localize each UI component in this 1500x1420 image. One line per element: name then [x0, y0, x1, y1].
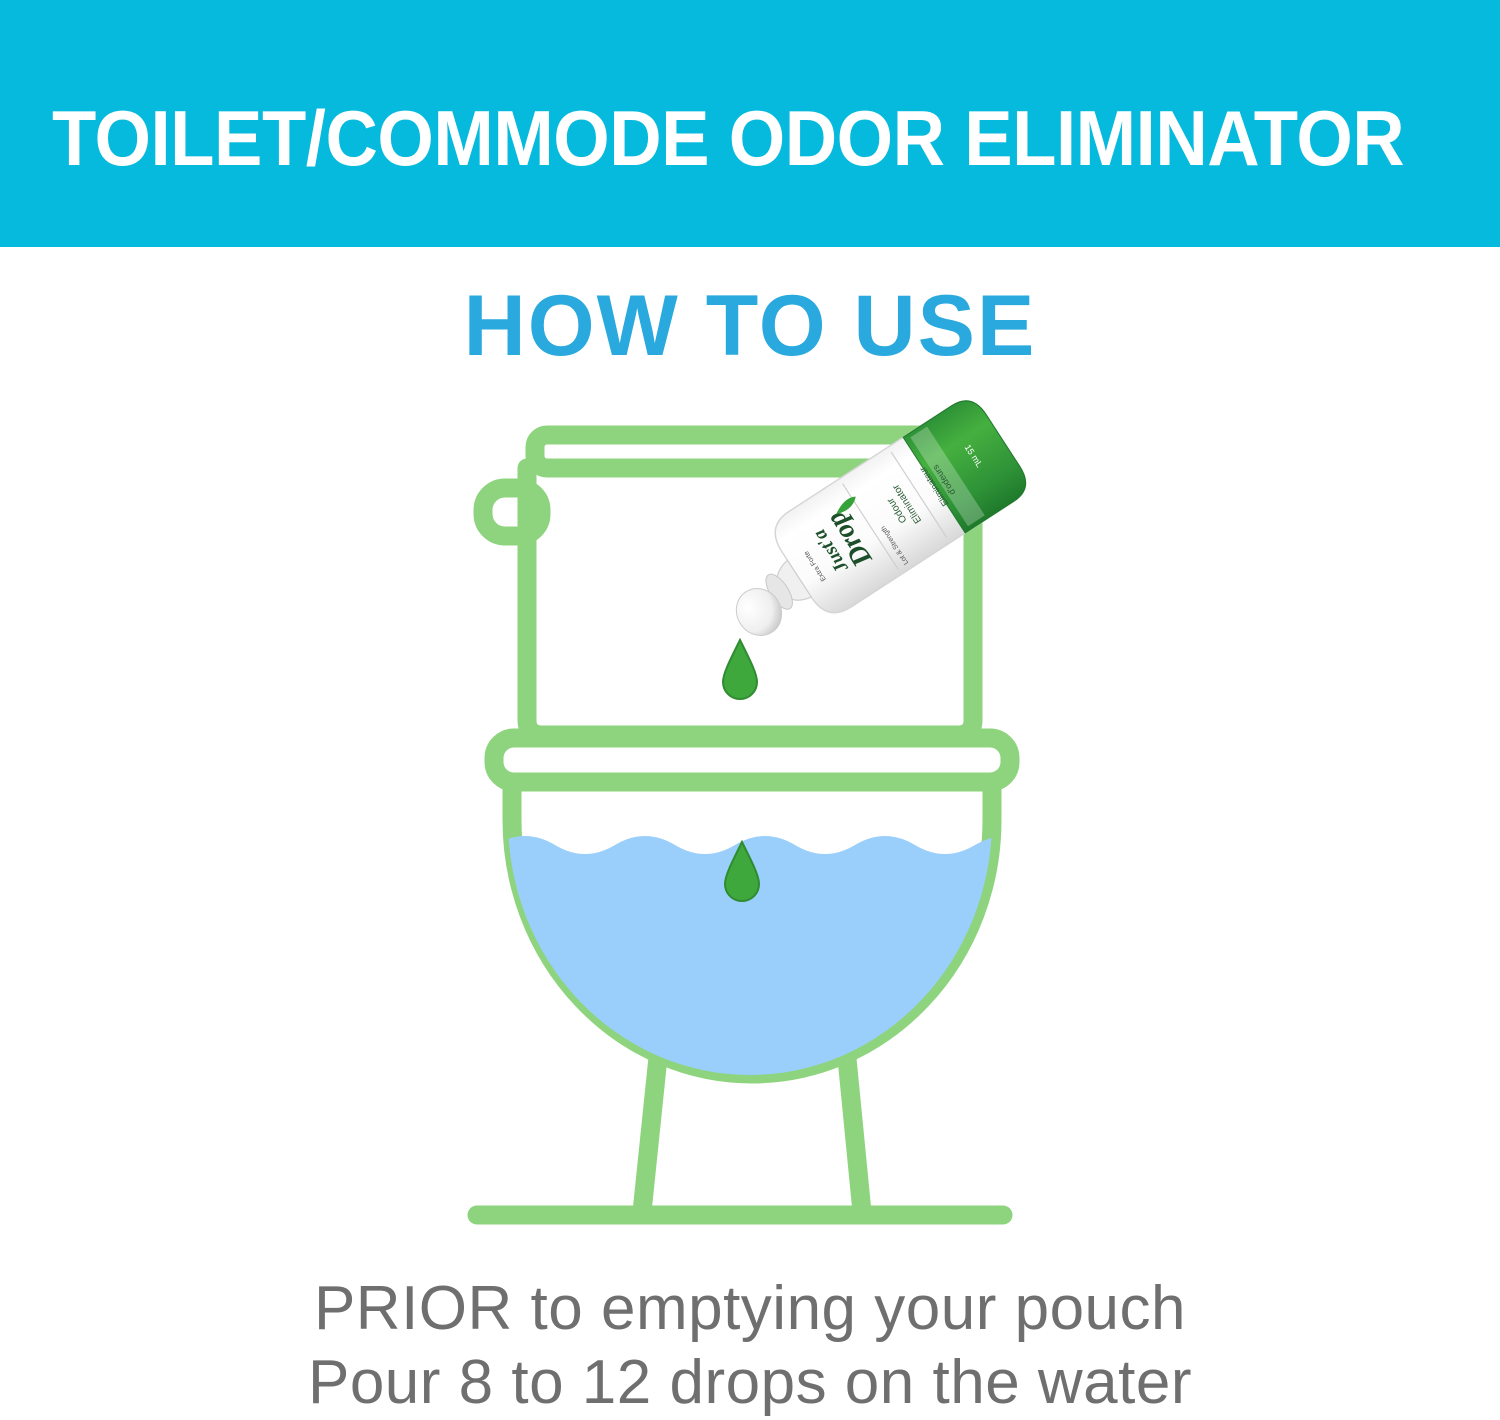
instruction-line-1: PRIOR to emptying your pouch — [0, 1272, 1500, 1346]
instruction-caption: PRIOR to emptying your pouch Pour 8 to 1… — [0, 1272, 1500, 1420]
flush-handle — [483, 488, 541, 536]
drop-upper — [723, 640, 757, 699]
instruction-line-2: Pour 8 to 12 drops on the water — [0, 1346, 1500, 1420]
toilet-leg-right — [845, 1038, 862, 1212]
page-title: TOILET/COMMODE ODOR ELIMINATOR — [52, 96, 1363, 180]
toilet-illustration-svg: 15 mL Just'a Drop Odour Eliminator Elimi… — [0, 390, 1500, 1240]
toilet-leg-left — [642, 1038, 660, 1212]
toilet-illustration: 15 mL Just'a Drop Odour Eliminator Elimi… — [0, 390, 1500, 1240]
section-heading-how-to-use: HOW TO USE — [0, 278, 1500, 374]
toilet-rim — [494, 738, 1010, 782]
header-banner: TOILET/COMMODE ODOR ELIMINATOR — [0, 0, 1500, 247]
